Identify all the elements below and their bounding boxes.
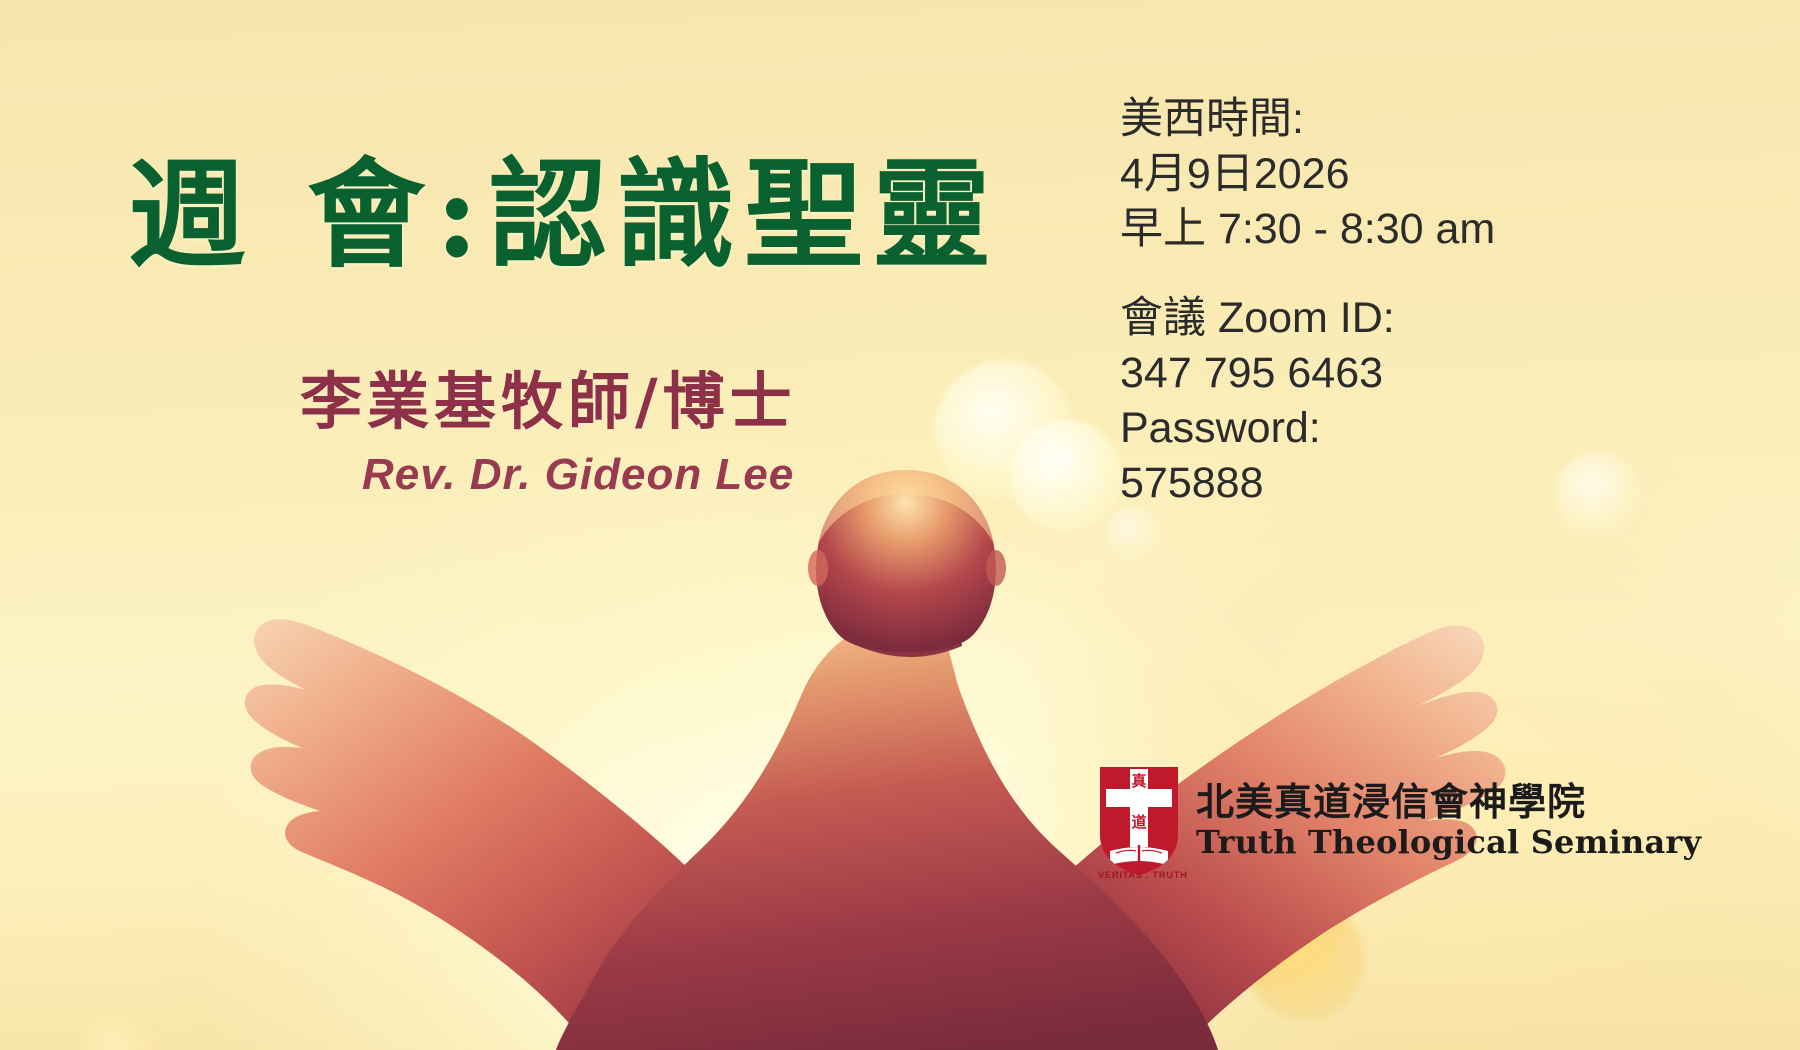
zoom-id-value: 347 795 6463 bbox=[1120, 346, 1680, 401]
zoom-id-label: 會議 Zoom ID: bbox=[1120, 291, 1680, 346]
timezone-label: 美西時間: bbox=[1120, 92, 1680, 147]
page-title: 週 會:認識聖靈 bbox=[128, 152, 1088, 277]
speaker-name-english: Rev. Dr. Gideon Lee bbox=[362, 450, 1062, 500]
svg-text:道: 道 bbox=[1131, 813, 1146, 831]
poster-canvas: 週 會:認識聖靈 李業基牧師/博士 Rev. Dr. Gideon Lee 美西… bbox=[0, 0, 1800, 1050]
shield-crest-icon: 真 道 VERITAS . TRUTH bbox=[1098, 765, 1180, 877]
seminary-logo-lockup: 真 道 VERITAS . TRUTH 北美真道浸信會神學院 Truth The… bbox=[1098, 765, 1701, 877]
logo-motto: VERITAS . TRUTH bbox=[1098, 870, 1180, 881]
event-time: 早上 7:30 - 8:30 am bbox=[1120, 202, 1680, 257]
password-value: 575888 bbox=[1120, 456, 1680, 511]
seminary-name-chinese: 北美真道浸信會神學院 bbox=[1196, 781, 1701, 824]
event-date: 4月9日2026 bbox=[1120, 147, 1680, 202]
svg-text:真: 真 bbox=[1131, 772, 1146, 790]
password-label: Password: bbox=[1120, 401, 1680, 456]
event-info-block: 美西時間: 4月9日2026 早上 7:30 - 8:30 am 會議 Zoom… bbox=[1120, 92, 1680, 511]
info-spacer bbox=[1120, 257, 1680, 291]
speaker-name-chinese: 李業基牧師/博士 bbox=[300, 368, 1000, 436]
seminary-name-block: 北美真道浸信會神學院 Truth Theological Seminary bbox=[1196, 781, 1701, 860]
seminary-name-english: Truth Theological Seminary bbox=[1196, 824, 1701, 861]
